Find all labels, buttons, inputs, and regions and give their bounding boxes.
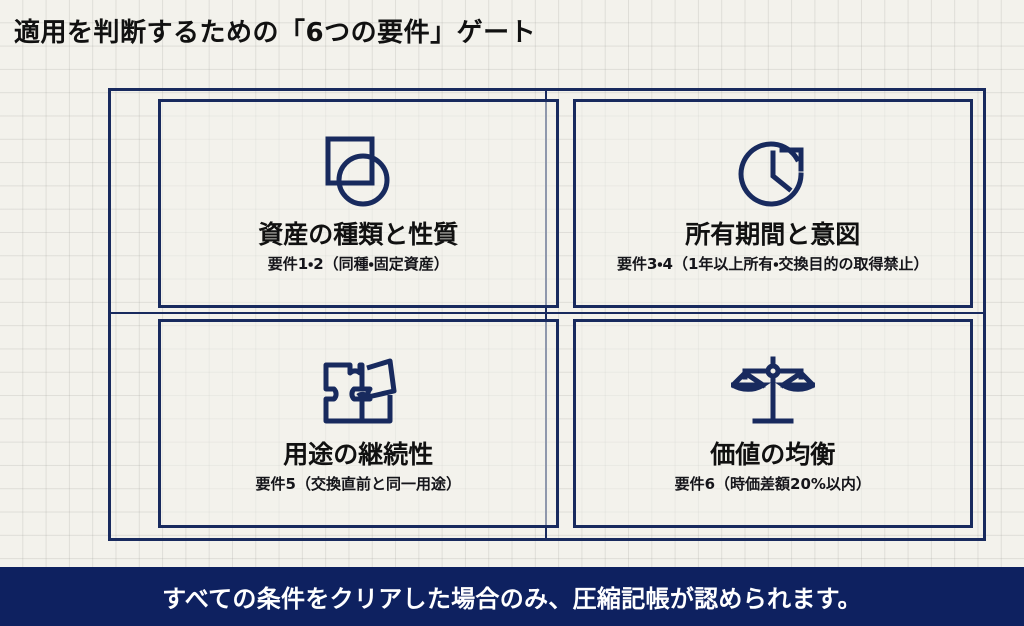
square-circle-overlap-icon [316, 130, 400, 216]
card-title: 用途の継続性 [283, 440, 433, 470]
card-title: 所有期間と意図 [685, 220, 860, 250]
card-subtitle: 要件6（時価差額20%以内） [675, 475, 871, 493]
requirement-card-holding-period[interactable]: 所有期間と意図 要件3・4（1年以上所有・交換目的の取得禁止） [573, 99, 974, 308]
requirement-card-value-balance[interactable]: 価値の均衡 要件6（時価差額20%以内） [573, 319, 974, 528]
requirement-card-use-continuity[interactable]: 用途の継続性 要件5（交換直前と同一用途） [158, 319, 559, 528]
requirements-grid: 資産の種類と性質 要件1・2（同種・固定資産） 所有期間と意図 要件3・4（1年… [120, 88, 986, 541]
footer-banner: すべての条件をクリアした場合のみ、圧縮記帳が認められます。 [0, 567, 1024, 626]
puzzle-pieces-icon [316, 350, 400, 436]
card-subtitle: 要件5（交換直前と同一用途） [256, 475, 461, 493]
requirement-card-asset-type[interactable]: 資産の種類と性質 要件1・2（同種・固定資産） [158, 99, 559, 308]
footer-message: すべての条件をクリアした場合のみ、圧縮記帳が認められます。 [162, 579, 862, 614]
clock-rotate-icon [731, 130, 815, 216]
slide-canvas: 適用を判断するための「6つの要件」ゲート 資産の種類と性質 要件1・2（同種・固… [0, 0, 1024, 626]
card-subtitle: 要件1・2（同種・固定資産） [268, 255, 449, 273]
card-title: 資産の種類と性質 [258, 220, 458, 250]
balance-scale-icon [731, 350, 815, 436]
card-subtitle: 要件3・4（1年以上所有・交換目的の取得禁止） [617, 255, 929, 273]
card-title: 価値の均衡 [710, 440, 835, 470]
page-title: 適用を判断するための「6つの要件」ゲート [14, 17, 536, 50]
